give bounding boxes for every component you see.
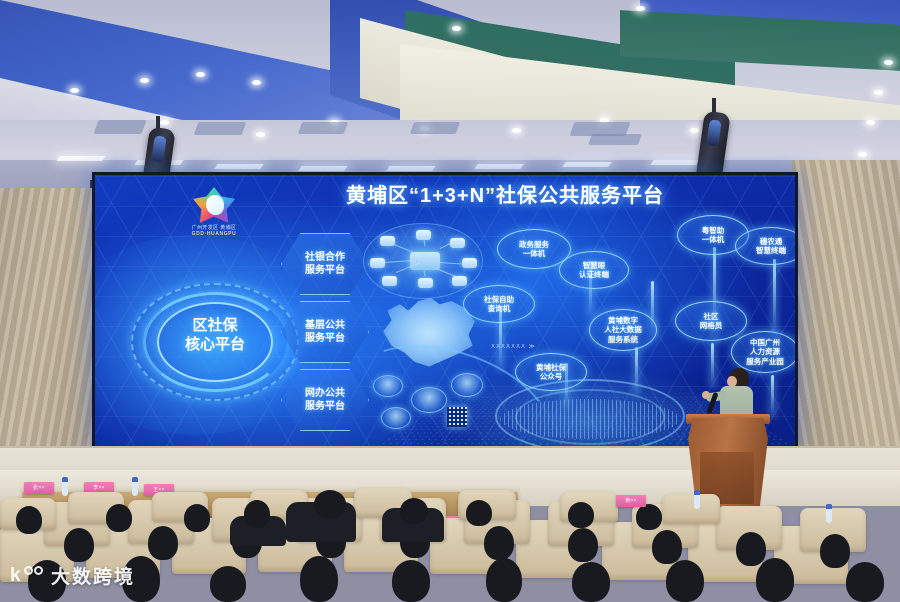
- attendee-head: [736, 532, 766, 566]
- downlight-icon: [70, 88, 79, 93]
- slide-title: 黄埔区“1+3+N”社保公共服务平台: [245, 185, 765, 209]
- logo-line-1: 广州开发区·黄埔区: [181, 224, 247, 231]
- downlight-icon: [636, 6, 645, 11]
- node-hr-service-industrial-park[interactable]: 中国广州 人力资源 服务产业园: [731, 331, 795, 373]
- network-diagram: [363, 223, 483, 299]
- air-vent: [588, 134, 642, 145]
- water-bottle: [826, 504, 832, 523]
- watermark-logo-icon: k: [10, 564, 44, 588]
- downlight-icon: [160, 120, 169, 125]
- attendee-head: [484, 526, 514, 560]
- node-community-grid-worker[interactable]: 社区 网格员: [675, 301, 747, 341]
- node-5-line-1: 社区: [704, 312, 719, 321]
- seat: [662, 494, 720, 524]
- slot-light: [298, 166, 348, 171]
- network-node-icon: [370, 258, 385, 268]
- light-beam: [771, 375, 774, 417]
- node-6-line-1: 黄埔数字: [608, 316, 638, 325]
- node-6-line-3: 服务系统: [608, 335, 638, 344]
- water-bottle: [694, 490, 700, 509]
- downlight-icon: [452, 26, 461, 31]
- slot-light: [386, 166, 436, 171]
- node-7-line-2: 公众号: [540, 372, 563, 381]
- node-digital-bigdata-system[interactable]: 黄埔数字 人社大数据 服务系统: [589, 309, 657, 351]
- hex-2-line-1: 网办公共: [305, 388, 345, 399]
- node-7-line-1: 黄埔社保: [536, 363, 566, 372]
- presentation-slide: 黄埔区“1+3+N”社保公共服务平台 广州开发区·黄埔区 GDD·HUANGPU…: [95, 175, 795, 447]
- node-4-line-1: 社保自助: [484, 295, 514, 304]
- downlight-icon: [884, 60, 893, 65]
- attendee-head: [568, 502, 594, 528]
- attendee-head: [106, 504, 132, 532]
- watermark-text: 大数跨境: [51, 562, 135, 589]
- attendee-head: [300, 556, 338, 602]
- district-logo: 广州开发区·黄埔区 GDD·HUANGPU: [181, 187, 247, 239]
- attendee-head: [846, 562, 884, 602]
- attendee-head: [148, 526, 178, 560]
- node-2-line-1: 粤智助: [702, 226, 725, 235]
- slot-light: [650, 160, 700, 165]
- slot-light: [562, 162, 612, 167]
- downlight-icon: [874, 90, 883, 95]
- downlight-icon: [252, 80, 261, 85]
- hex-0-line-1: 社银合作: [305, 252, 345, 263]
- downlight-icon: [690, 128, 699, 133]
- slot-light: [474, 164, 524, 169]
- node-self-service-query-machine[interactable]: 社保自助 查询机: [463, 285, 535, 323]
- water-bottle: [132, 477, 138, 496]
- attendee-head: [64, 528, 94, 562]
- node-6-line-2: 人社大数据: [604, 325, 642, 334]
- screenshot-root: 黄埔区“1+3+N”社保公共服务平台 广州开发区·黄埔区 GDD·HUANGPU…: [0, 0, 900, 602]
- led-screen: 黄埔区“1+3+N”社保公共服务平台 广州开发区·黄埔区 GDD·HUANGPU…: [92, 172, 798, 450]
- node-3-line-2: 智慧终端: [756, 246, 786, 255]
- attendee-head: [568, 528, 598, 562]
- slot-light: [56, 156, 106, 161]
- light-beam: [711, 343, 714, 387]
- logo-star-icon: [193, 187, 235, 223]
- attendee-head: [314, 490, 346, 518]
- node-3-line-1: 穗农通: [760, 237, 783, 246]
- attendee-head: [666, 560, 704, 602]
- air-vent: [410, 122, 460, 134]
- core-label-line-2: 核心平台: [131, 336, 299, 355]
- network-node-icon: [452, 276, 467, 286]
- node-4-line-2: 查询机: [488, 304, 511, 313]
- core-platform-label: 区社保 核心平台: [131, 317, 299, 355]
- attendee-head: [210, 566, 246, 602]
- downlight-icon: [140, 78, 149, 83]
- right-wall-slats: [792, 160, 900, 490]
- node-8-line-3: 服务产业园: [746, 357, 784, 366]
- node-1-line-1: 智慧眼: [583, 261, 606, 270]
- network-node-icon: [418, 278, 433, 288]
- air-vent: [194, 122, 247, 135]
- attendee-head: [486, 558, 522, 602]
- hex-2-line-2: 服务平台: [305, 401, 345, 412]
- air-vent: [298, 122, 348, 134]
- attendee-head: [392, 560, 430, 602]
- air-vent: [93, 120, 146, 134]
- downlight-icon: [858, 152, 867, 157]
- attendee-head: [572, 562, 610, 602]
- node-0-line-2: 一体机: [523, 249, 546, 258]
- network-node-icon: [416, 230, 431, 240]
- attendee-head: [400, 498, 428, 524]
- downlight-icon: [196, 72, 205, 77]
- core-label-line-1: 区社保: [131, 317, 299, 336]
- water-bottle: [62, 477, 68, 496]
- node-8-line-2: 人力资源: [750, 347, 780, 356]
- node-5-line-2: 网格员: [700, 321, 723, 330]
- speaker-hand: [702, 391, 710, 399]
- logo-line-2: GDD·HUANGPU: [181, 231, 247, 237]
- marquee-text: XXXXXXX ≫: [491, 343, 536, 350]
- slot-light: [214, 164, 264, 169]
- node-8-line-1: 中国广州: [750, 338, 780, 347]
- attendee-head: [636, 504, 662, 530]
- attendee-head: [820, 534, 850, 568]
- node-2-line-2: 一体机: [702, 235, 725, 244]
- attendee-head: [16, 506, 42, 534]
- core-platform-graphic: 区社保 核心平台: [131, 283, 299, 401]
- hex-1-line-2: 服务平台: [305, 333, 345, 344]
- hex-0-line-2: 服务平台: [305, 265, 345, 276]
- node-smart-eye-auth-terminal[interactable]: 智慧眼 认证终端: [559, 251, 629, 289]
- name-placard: 黄××: [616, 495, 646, 507]
- attendee-head: [244, 500, 270, 528]
- name-placard: 张××: [24, 482, 54, 494]
- attendee-head: [652, 530, 682, 564]
- downlight-icon: [866, 120, 875, 125]
- node-1-line-2: 认证终端: [579, 270, 609, 279]
- attendee-head: [184, 504, 210, 532]
- light-beam: [773, 259, 776, 339]
- watermark: k 大数跨境: [10, 562, 135, 589]
- ceiling: [0, 0, 900, 190]
- downlight-icon: [512, 128, 521, 133]
- downlight-icon: [256, 132, 265, 137]
- network-node-icon: [382, 276, 397, 286]
- attendee-head: [466, 500, 492, 526]
- attendee-head: [756, 558, 794, 602]
- node-0-line-1: 政务服务: [519, 240, 549, 249]
- hex-1-line-1: 基层公共: [305, 320, 345, 331]
